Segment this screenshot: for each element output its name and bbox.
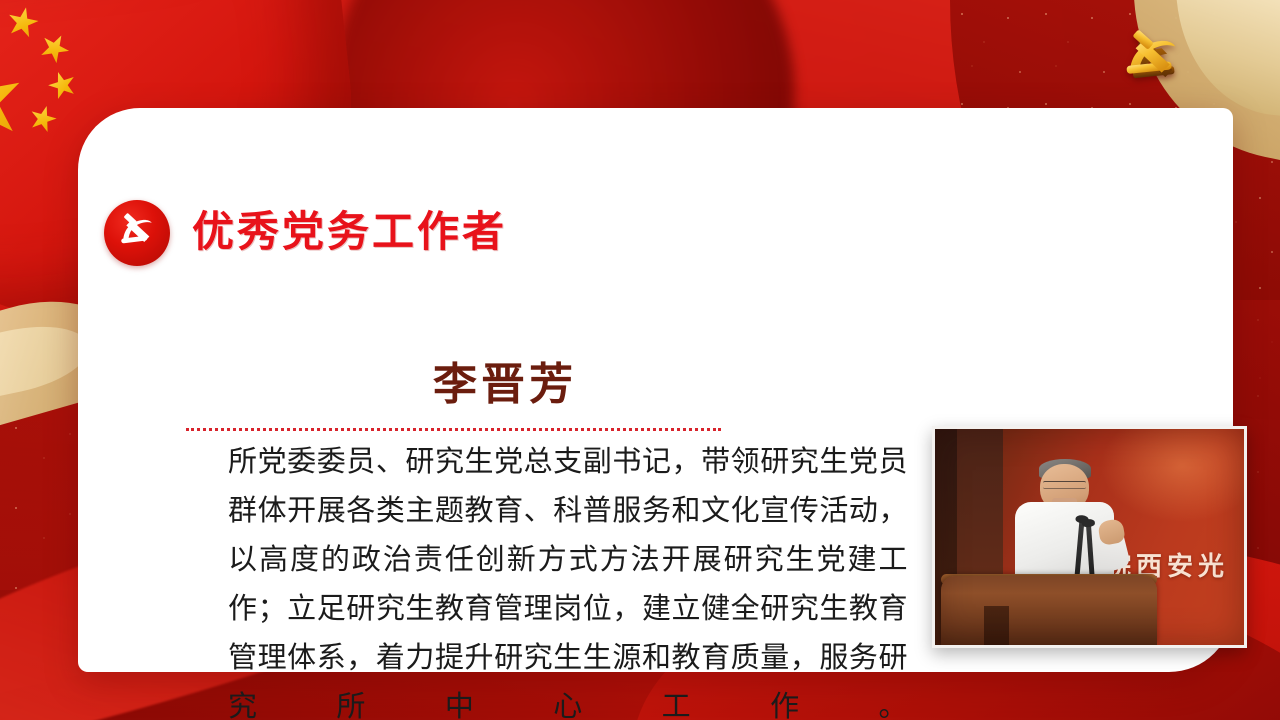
flag-star-small-1 (5, 4, 41, 40)
party-emblem-badge-icon (104, 200, 170, 266)
flag-star-small-2 (36, 29, 74, 67)
dotted-divider (186, 428, 721, 431)
description-text: 所党委委员、研究生党总支副书记，带领研究生党员群体开展各类主题教育、科普服务和文… (228, 438, 908, 720)
flag-star-small-3 (45, 68, 79, 102)
content-card: 优秀党务工作者 李晋芳 所党委委员、研究生党总支副书记，带领研究生党员群体开展各… (78, 108, 1233, 672)
slide-root: 优秀党务工作者 李晋芳 所党委委员、研究生党总支副书记，带领研究生党员群体开展各… (0, 0, 1280, 720)
party-emblem-gold-icon (1113, 24, 1205, 96)
person-name: 李晋芳 (433, 363, 577, 407)
photo-vignette (935, 429, 1244, 645)
flag-star-large (0, 56, 28, 146)
speaker-photo: 院西安光 (932, 426, 1247, 648)
flag-star-small-4 (27, 102, 59, 134)
card-header: 优秀党务工作者 (104, 200, 507, 266)
page-title: 优秀党务工作者 (192, 212, 507, 254)
